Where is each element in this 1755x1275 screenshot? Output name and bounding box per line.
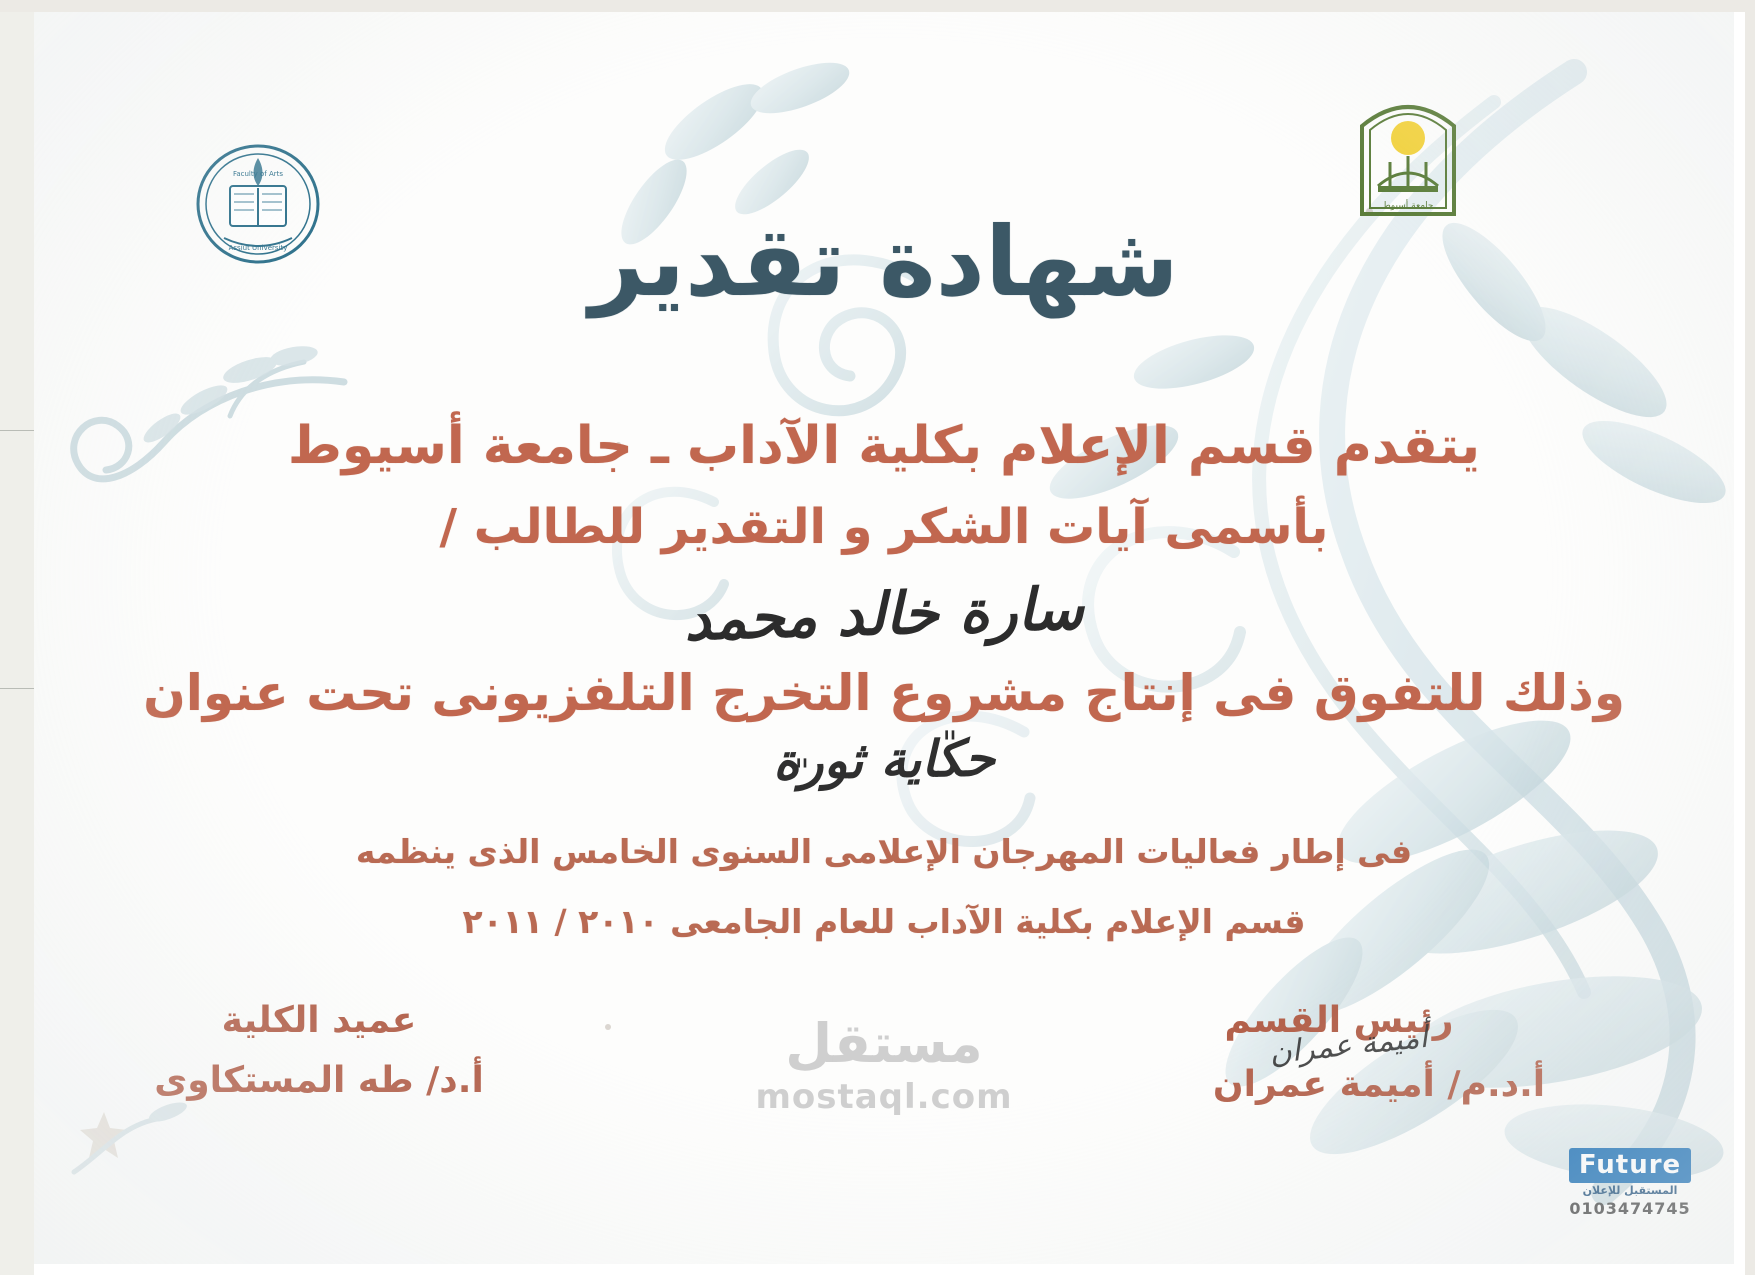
scanned-certificate-page: Assiut University Faculty of Arts جامعة … — [0, 0, 1755, 1275]
scanner-right-margin — [1745, 0, 1755, 1275]
body-line-3: وذلك للتفوق فى إنتاج مشروع التخرج التلفز… — [34, 664, 1734, 722]
future-printer-logo: Future المستقبل للإعلان 0103474745 — [1554, 1148, 1706, 1218]
scanner-left-seam-lower — [0, 688, 34, 689]
assiut-university-logo: جامعة أسيوط — [1352, 90, 1464, 220]
scanner-left-margin — [0, 0, 34, 1275]
future-sub-label: المستقبل للإعلان — [1554, 1184, 1706, 1197]
certificate-title: شهادة تقدير — [34, 210, 1734, 316]
body-line-2: بأسمى آيات الشكر و التقدير للطالب / — [34, 499, 1734, 555]
dean-role: عميد الكلية — [154, 1000, 484, 1041]
scan-speck-2 — [605, 1024, 611, 1030]
scanner-left-seam-upper — [0, 430, 34, 431]
certificate-card: Assiut University Faculty of Arts جامعة … — [34, 12, 1734, 1264]
quote-close-mark: " — [794, 752, 810, 792]
body-line-6: قسم الإعلام بكلية الآداب للعام الجامعى ٢… — [34, 902, 1734, 941]
body-line-5: فى إطار فعاليات المهرجان الإعلامى السنوى… — [34, 832, 1734, 871]
svg-text:Faculty of Arts: Faculty of Arts — [233, 170, 283, 178]
future-brand-label: Future — [1569, 1148, 1691, 1183]
student-name-handwritten: سارة خالد محمد — [34, 556, 1734, 671]
body-line-1: يتقدم قسم الإعلام بكلية الآداب ـ جامعة أ… — [34, 416, 1734, 476]
dean-name: أ.د/ طه المستكاوى — [114, 1060, 524, 1101]
scanner-top-margin — [0, 0, 1755, 12]
project-title-handwritten: حكاية ثورة — [34, 715, 1734, 804]
head-of-department-name: أ.د.م/ أميمة عمران — [1164, 1064, 1594, 1105]
future-phone-number: 0103474745 — [1554, 1199, 1706, 1218]
